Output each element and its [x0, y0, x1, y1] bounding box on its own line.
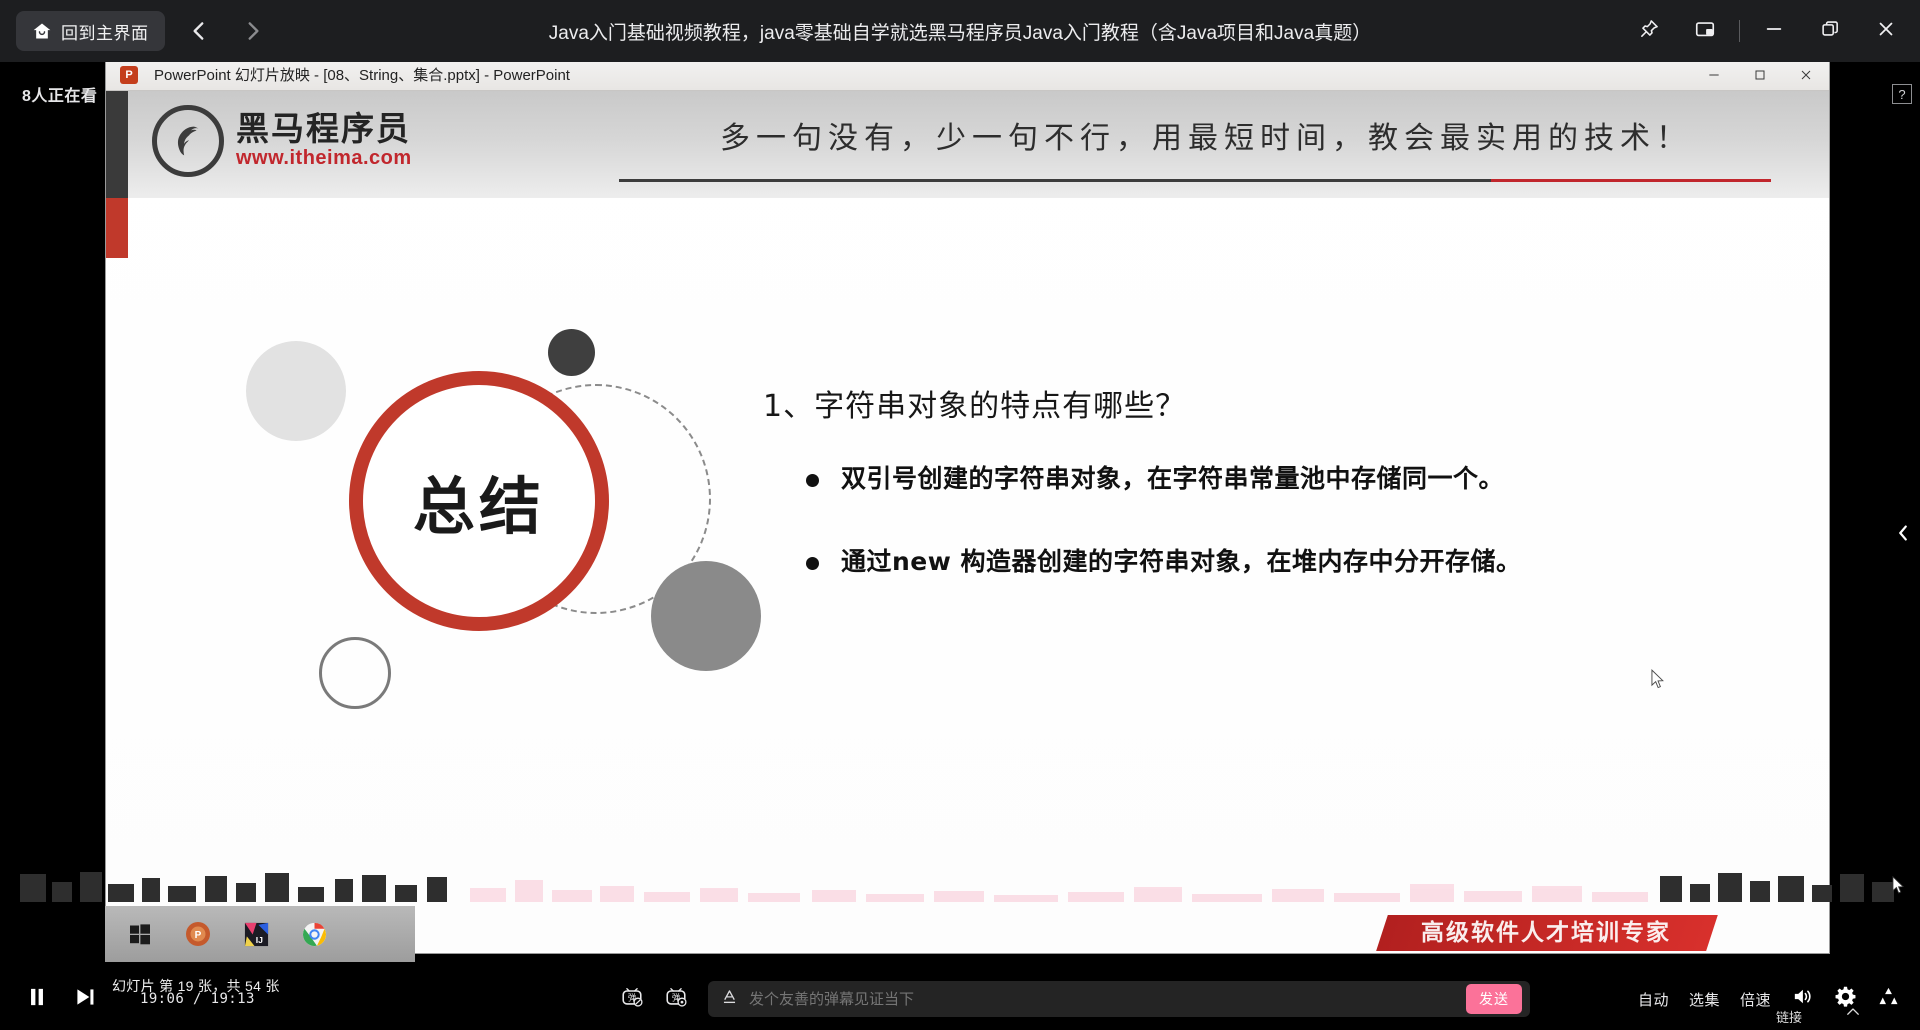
decorative-circle-light	[246, 341, 346, 441]
slogan-underline-accent	[1491, 179, 1771, 182]
picture-in-picture-button[interactable]	[1677, 0, 1733, 62]
summary-badge-label: 总结	[413, 456, 545, 546]
pause-icon	[24, 984, 50, 1015]
help-badge[interactable]: ?	[1892, 84, 1912, 104]
back-to-home-label: 回到主界面	[61, 19, 149, 44]
danmaku-settings-button[interactable]: 弹	[664, 985, 688, 1014]
episodes-button[interactable]: 选集	[1689, 989, 1720, 1010]
decorative-circle-dark	[548, 329, 595, 376]
powerpoint-restore-button[interactable]	[1737, 62, 1783, 91]
taskbar-item-windows-start[interactable]	[125, 919, 155, 949]
powerpoint-close-button[interactable]	[1783, 62, 1829, 91]
brand-logo: 黑马程序员 www.itheima.com	[152, 105, 412, 177]
brand-text: 黑马程序员 www.itheima.com	[236, 112, 412, 171]
bullet-text: 通过new 构造器创建的字符串对象，在堆内存中分开存储。	[841, 546, 1522, 577]
slide-slogan: 多一句没有，少一句不行，用最短时间，教会最实用的技术！	[626, 113, 1786, 157]
pin-icon	[1638, 18, 1660, 45]
bullet-text: 双引号创建的字符串对象，在字符串常量池中存储同一个。	[841, 463, 1504, 494]
link-label[interactable]: 链接	[1776, 1007, 1802, 1026]
decorative-ring-small	[319, 637, 391, 709]
danmaku-input-wrapper[interactable]: 发送	[708, 981, 1530, 1017]
minimize-icon	[1763, 18, 1785, 45]
slide-left-red-tab	[106, 198, 128, 258]
taskbar-item-chrome[interactable]	[299, 919, 329, 949]
close-button[interactable]	[1858, 0, 1914, 62]
chevron-left-icon	[186, 18, 212, 44]
taskbar-item-powerpoint[interactable]: P	[183, 919, 213, 949]
chevron-up-icon	[1844, 1008, 1862, 1025]
fullscreen-icon	[1877, 985, 1900, 1013]
danmaku-controls: 弹 弹	[620, 981, 1530, 1017]
slide-question: 1、字符串对象的特点有哪些？	[763, 381, 1186, 425]
nav-back-button[interactable]	[179, 11, 219, 51]
chevron-right-icon	[240, 18, 266, 44]
danmaku-input[interactable]	[749, 991, 1456, 1008]
slide-footer-text: 高级软件人才培训专家	[1421, 913, 1671, 947]
brand-name: 黑马程序员	[236, 112, 412, 147]
font-style-icon[interactable]	[720, 987, 739, 1011]
divider	[1739, 20, 1740, 42]
playback-speed-button[interactable]: 倍速	[1740, 989, 1771, 1010]
list-item: 双引号创建的字符串对象，在字符串常量池中存储同一个。	[806, 463, 1746, 494]
fullscreen-button[interactable]	[1877, 985, 1900, 1013]
powerpoint-icon: P	[184, 920, 212, 948]
quality-auto-button[interactable]: 自动	[1638, 989, 1669, 1010]
send-danmaku-button[interactable]: 发送	[1466, 984, 1522, 1014]
sidebar-collapse-button[interactable]	[1892, 522, 1914, 549]
window-controls	[1621, 0, 1920, 62]
danmaku-off-button[interactable]: 弹	[620, 985, 644, 1014]
slide-left-accent	[106, 91, 128, 198]
video-player-area[interactable]: 8人正在看 ? P PowerPoint 幻灯片放映 - [08、String、…	[0, 62, 1920, 962]
taskbar-item-intellij-idea[interactable]: IJ	[241, 919, 271, 949]
summary-badge: 总结	[349, 371, 609, 631]
close-icon	[1875, 18, 1897, 45]
waveform-cursor-icon	[1892, 876, 1906, 900]
back-to-home-button[interactable]: 回到主界面	[16, 11, 165, 51]
brand-url: www.itheima.com	[236, 147, 412, 170]
mouse-cursor-icon	[1651, 669, 1666, 695]
slide-status-text: 幻灯片 第 19 张，共 54 张	[112, 976, 280, 996]
powerpoint-title-text: PowerPoint 幻灯片放映 - [08、String、集合.pptx] -…	[154, 64, 570, 85]
powerpoint-minimize-button[interactable]	[1691, 62, 1737, 91]
minimize-button[interactable]	[1746, 0, 1802, 62]
house-icon	[32, 21, 52, 41]
powerpoint-title-bar: P PowerPoint 幻灯片放映 - [08、String、集合.pptx]…	[106, 62, 1829, 91]
minimize-icon	[1706, 67, 1722, 83]
slide-canvas: 黑马程序员 www.itheima.com 多一句没有，少一句不行，用最短时间，…	[106, 91, 1829, 951]
decorative-circle-gray	[651, 561, 761, 671]
powerpoint-window-controls	[1691, 62, 1829, 91]
danmaku-off-icon: 弹	[620, 985, 644, 1014]
restore-button[interactable]	[1802, 0, 1858, 62]
next-episode-button[interactable]	[72, 984, 98, 1015]
svg-text:IJ: IJ	[255, 935, 262, 945]
svg-text:P: P	[195, 930, 202, 941]
watchers-count: 8人正在看	[22, 82, 97, 106]
windows-logo-icon	[128, 922, 152, 946]
bullet-dot-icon	[806, 557, 819, 570]
player-control-bar: 19:06 / 19:13 弹	[0, 968, 1920, 1030]
app-root: 回到主界面 Java入门基础视频教程，java零基础自学就选黑马程序员Java入…	[0, 0, 1920, 1030]
restore-icon	[1752, 67, 1768, 83]
picture-in-picture-icon	[1694, 18, 1716, 45]
audio-waveform	[0, 870, 1920, 902]
list-item: 通过new 构造器创建的字符串对象，在堆内存中分开存储。	[806, 546, 1746, 577]
page-title-text: Java入门基础视频教程，java零基础自学就选黑马程序员Java入门教程（含J…	[549, 18, 1371, 45]
tray-expand-button[interactable]	[1844, 1003, 1862, 1026]
intellij-idea-icon: IJ	[243, 921, 270, 948]
pin-button[interactable]	[1621, 0, 1677, 62]
restore-icon	[1819, 18, 1841, 45]
slide-bullet-list: 双引号创建的字符串对象，在字符串常量池中存储同一个。 通过new 构造器创建的字…	[806, 463, 1746, 630]
nav-forward-button[interactable]	[233, 11, 273, 51]
play-pause-button[interactable]	[24, 984, 50, 1015]
bullet-dot-icon	[806, 474, 819, 487]
next-episode-icon	[72, 984, 98, 1015]
danmaku-setting-icon: 弹	[664, 985, 688, 1014]
powerpoint-window: P PowerPoint 幻灯片放映 - [08、String、集合.pptx]…	[105, 62, 1830, 954]
horse-logo-icon	[152, 105, 224, 177]
chevron-left-icon	[1892, 531, 1914, 548]
close-icon	[1798, 67, 1814, 83]
windows-taskbar: P IJ	[105, 906, 415, 962]
chrome-icon	[301, 921, 328, 948]
window-title-bar: 回到主界面 Java入门基础视频教程，java零基础自学就选黑马程序员Java入…	[0, 0, 1920, 62]
powerpoint-icon: P	[120, 66, 138, 84]
